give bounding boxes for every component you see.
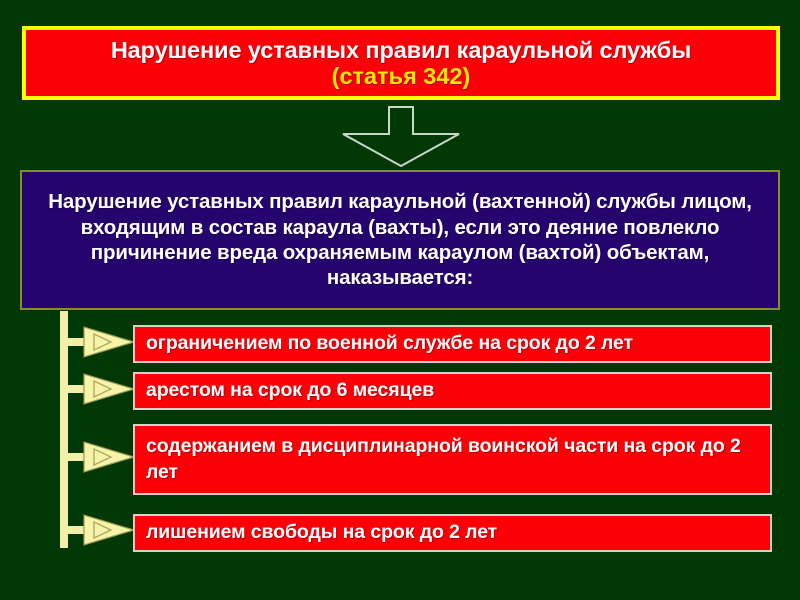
penalty-text-1: ограничением по военной службе на срок д… — [146, 331, 633, 356]
down-arrow-icon — [333, 106, 469, 168]
title-box: Нарушение уставных правил караульной слу… — [22, 26, 780, 100]
penalty-text-2: арестом на срок до 6 месяцев — [146, 378, 434, 403]
penalty-text-3: содержанием в дисциплинарной воинской ча… — [146, 434, 762, 485]
slide-canvas: Нарушение уставных правил караульной слу… — [0, 0, 800, 600]
arrowhead-group — [84, 327, 134, 545]
statute-text: Нарушение уставных правил караульной (ва… — [40, 189, 760, 291]
penalty-box-4: лишением свободы на срок до 2 лет — [133, 514, 772, 552]
title-line-primary: Нарушение уставных правил караульной слу… — [111, 37, 691, 63]
statute-box: Нарушение уставных правил караульной (ва… — [20, 170, 780, 310]
penalty-box-2: арестом на срок до 6 месяцев — [133, 372, 772, 410]
penalty-text-4: лишением свободы на срок до 2 лет — [146, 520, 497, 545]
penalty-box-1: ограничением по военной службе на срок д… — [133, 325, 772, 363]
penalty-box-3: содержанием в дисциплинарной воинской ча… — [133, 424, 772, 495]
penalty-connector — [58, 305, 140, 555]
title-line-article: (статья 342) — [332, 63, 471, 89]
